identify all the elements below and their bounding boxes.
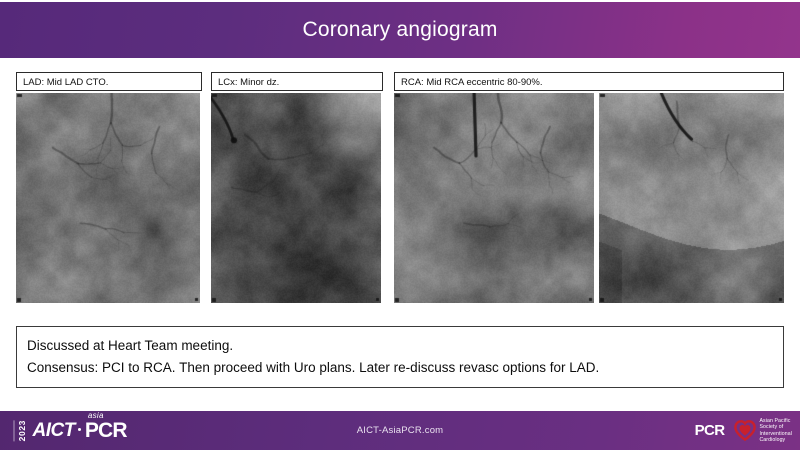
angiogram-panels: LAD: Mid LAD CTO. LCx: Minor dz. RCA: Mi…: [0, 72, 800, 312]
lad-angiogram[interactable]: [16, 93, 200, 303]
panel-lcx: LCx: Minor dz.: [211, 72, 383, 303]
footer-url: AICT-AsiaPCR.com: [0, 411, 800, 450]
page-title: Coronary angiogram: [302, 18, 497, 42]
slide-footer: 2023 AICT asia PCR AICT-AsiaPCR.com PCR …: [0, 411, 800, 450]
consensus-line-1: Discussed at Heart Team meeting.: [27, 335, 773, 357]
panel-lad: LAD: Mid LAD CTO.: [16, 72, 202, 303]
panel-images-rca: [394, 93, 784, 303]
consensus-textbox: Discussed at Heart Team meeting. Consens…: [16, 326, 784, 388]
panel-label-rca: RCA: Mid RCA eccentric 80-90%.: [394, 72, 784, 91]
apsic-line-4: Cardiology: [759, 437, 792, 443]
lcx-angiogram[interactable]: [211, 93, 381, 303]
rca-angiogram-view-2[interactable]: [599, 93, 784, 303]
panel-images-lad: [16, 93, 202, 303]
apsic-logo: Asian Pacific Society of Interventional …: [734, 418, 792, 444]
panel-images-lcx: [211, 93, 383, 303]
pcr-right-logo-text: PCR: [695, 422, 725, 439]
panel-label-lad: LAD: Mid LAD CTO.: [16, 72, 202, 91]
rca-angiogram-view-1[interactable]: [394, 93, 594, 303]
slide-header: Coronary angiogram: [0, 2, 800, 58]
apsic-line-3: Interventional: [759, 431, 792, 437]
footer-brand-right: PCR Asian Pacific Society of Interventio…: [695, 411, 792, 450]
apsic-text-block: Asian Pacific Society of Interventional …: [759, 418, 792, 444]
panel-rca: RCA: Mid RCA eccentric 80-90%.: [394, 72, 784, 303]
heart-icon: [734, 420, 756, 441]
consensus-line-2: Consensus: PCI to RCA. Then proceed with…: [27, 357, 773, 379]
panel-label-lcx: LCx: Minor dz.: [211, 72, 383, 91]
